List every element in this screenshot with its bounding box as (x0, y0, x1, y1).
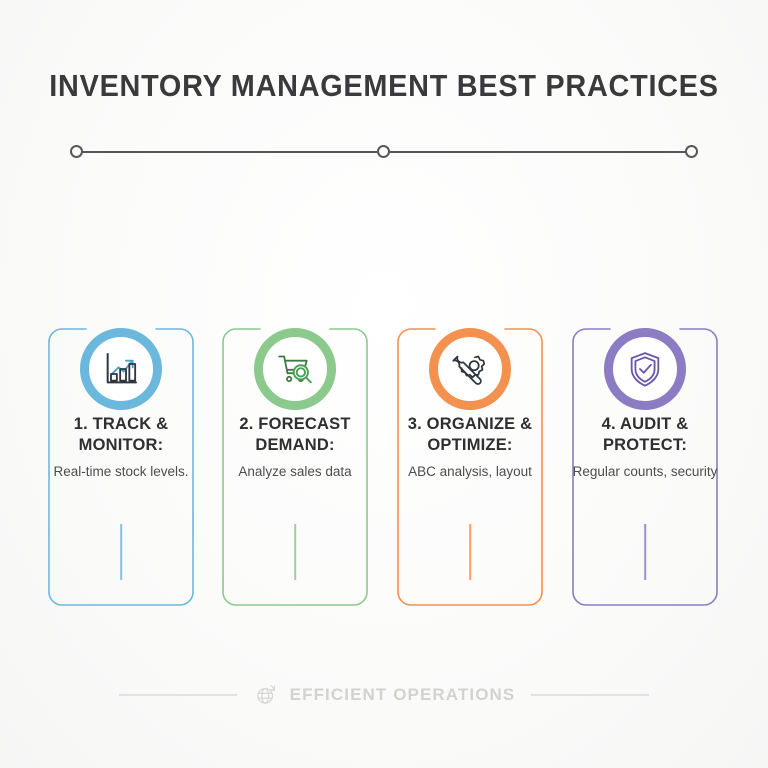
card-connector-bottom-2 (294, 524, 296, 580)
step-card-2[interactable]: 2. FORECAST DEMAND: Analyze sales data (222, 328, 368, 606)
step-card-4[interactable]: 4. AUDIT & PROTECT: Regular counts, secu… (572, 328, 718, 606)
globe-refresh-icon (253, 682, 279, 708)
footer-rule-left (119, 694, 237, 695)
shield-check-icon (625, 349, 665, 389)
step-medallion-2[interactable] (254, 328, 336, 410)
header-divider (70, 144, 698, 160)
cart-magnifier-icon (275, 349, 315, 389)
step-text-3: 3. ORGANIZE & OPTIMIZE: ABC analysis, la… (388, 414, 552, 481)
footer: EFFICIENT OPERATIONS (0, 682, 768, 708)
divider-node-center (377, 145, 390, 158)
card-connector-bottom-4 (644, 524, 646, 580)
card-connector-bottom-1 (120, 524, 122, 580)
step-text-2: 2. FORECAST DEMAND: Analyze sales data (213, 414, 377, 481)
infographic-canvas: INVENTORY MANAGEMENT BEST PRACTICES (0, 0, 768, 768)
step-card-3[interactable]: 3. ORGANIZE & OPTIMIZE: ABC analysis, la… (397, 328, 543, 606)
step-text-4: 4. AUDIT & PROTECT: Regular counts, secu… (563, 414, 727, 481)
step-medallion-3[interactable] (429, 328, 511, 410)
step-medallion-1[interactable] (80, 328, 162, 410)
step-heading-2: 2. FORECAST DEMAND: (213, 414, 377, 456)
steps-row: 1. TRACK & MONITOR: Real-time stock leve… (0, 272, 768, 612)
page-title: INVENTORY MANAGEMENT BEST PRACTICES (27, 68, 741, 104)
bar-chart-growth-icon (101, 349, 141, 389)
footer-rule-right (531, 694, 649, 695)
step-body-4: Regular counts, security (563, 462, 727, 481)
footer-brand: EFFICIENT OPERATIONS (237, 682, 532, 708)
gear-wrench-icon (450, 349, 490, 389)
step-body-1: Real-time stock levels. (39, 462, 203, 481)
step-card-1[interactable]: 1. TRACK & MONITOR: Real-time stock leve… (48, 328, 194, 606)
step-body-3: ABC analysis, layout (388, 462, 552, 481)
step-heading-1: 1. TRACK & MONITOR: (39, 414, 203, 456)
divider-node-right (685, 145, 698, 158)
step-heading-4: 4. AUDIT & PROTECT: (563, 414, 727, 456)
step-heading-3: 3. ORGANIZE & OPTIMIZE: (388, 414, 552, 456)
step-text-1: 1. TRACK & MONITOR: Real-time stock leve… (39, 414, 203, 481)
step-body-2: Analyze sales data (213, 462, 377, 481)
card-connector-bottom-3 (469, 524, 471, 580)
footer-label: EFFICIENT OPERATIONS (290, 685, 516, 705)
step-medallion-4[interactable] (604, 328, 686, 410)
divider-node-left (70, 145, 83, 158)
